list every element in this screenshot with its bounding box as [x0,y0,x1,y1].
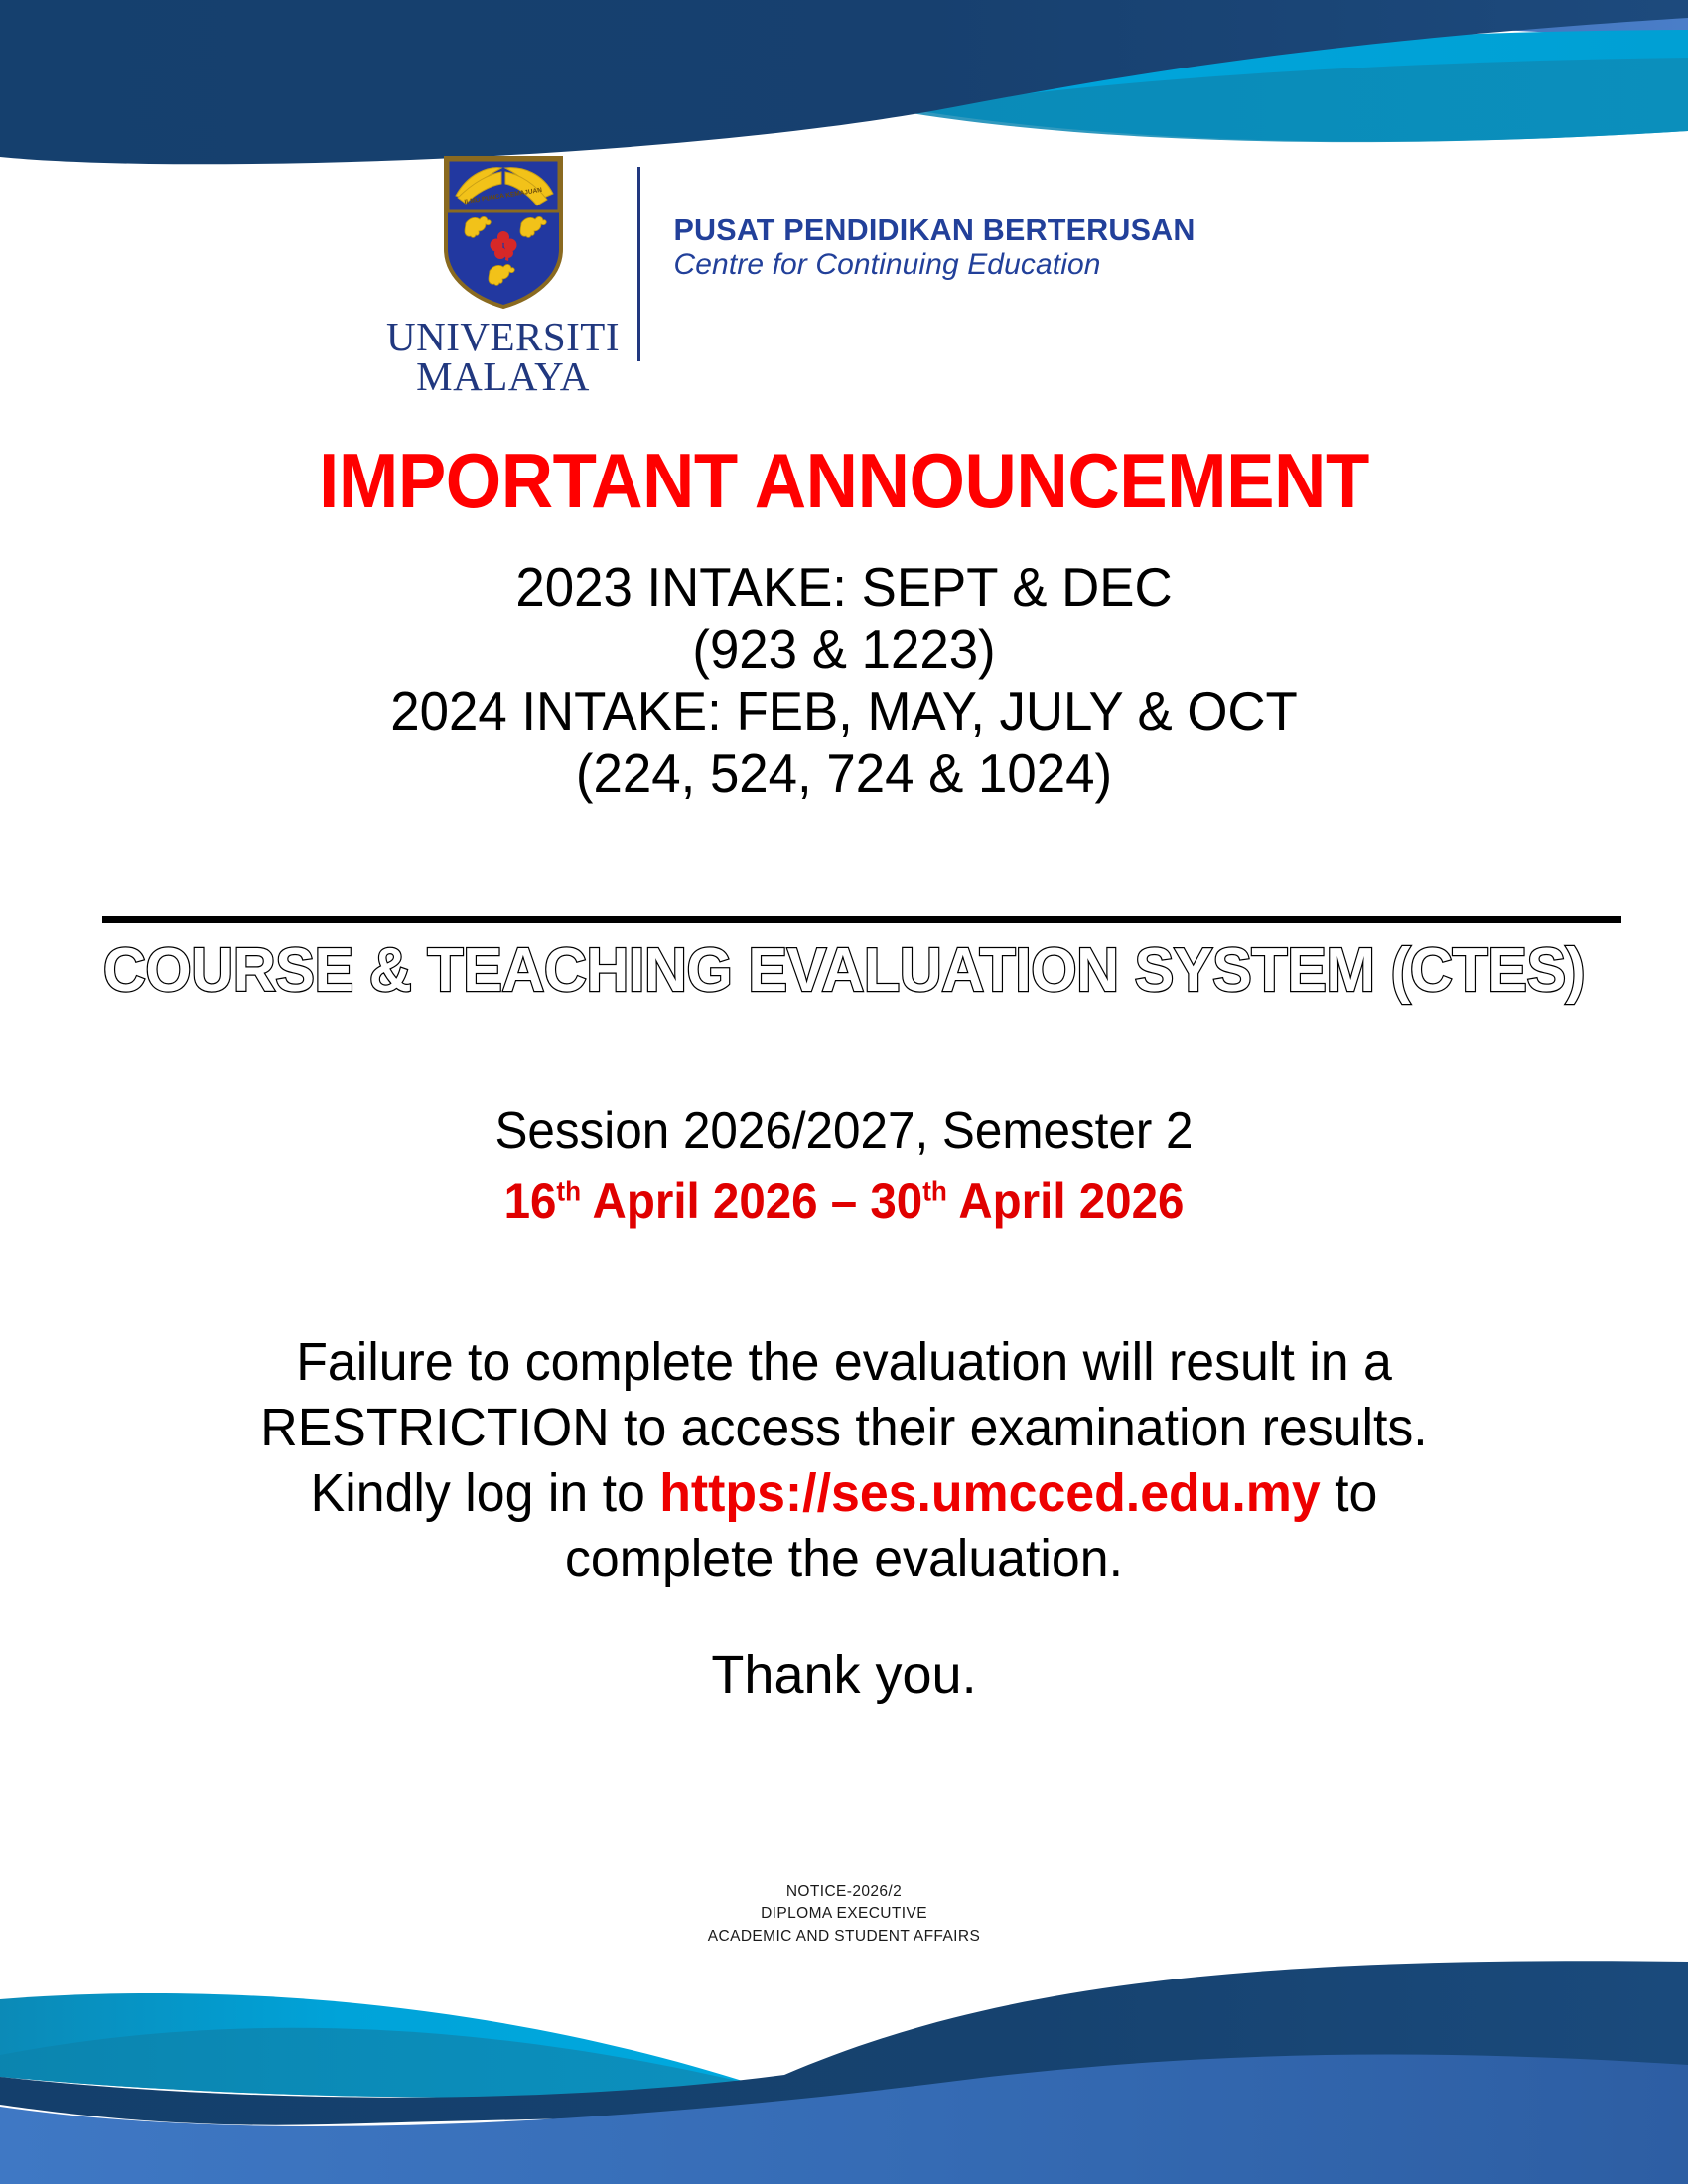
instruction-line-4: complete the evaluation. [34,1527,1654,1592]
date-start-ordinal: th [556,1175,581,1206]
instruction-line-3: Kindly log in to https://ses.umcced.edu.… [34,1461,1654,1527]
thank-you-text: Thank you. [0,1643,1688,1707]
instruction-line-1: Failure to complete the evaluation will … [34,1330,1654,1396]
header-logo-block: ILMU PUNCA KEMAJUAN UNIVERSITI MALAYA [0,154,1688,396]
intake-line-1: 2023 INTAKE: SEPT & DEC [34,556,1654,618]
date-start-rest: April 2026 – [581,1173,870,1229]
system-title: COURSE & TEACHING EVALUATION SYSTEM (CTE… [34,938,1654,1003]
evaluation-period: 16th April 2026 – 30th April 2026 [43,1173,1646,1229]
instruction-line-2: RESTRICTION to access their examination … [34,1396,1654,1461]
date-end-day: 30 [870,1173,922,1229]
intake-list: 2023 INTAKE: SEPT & DEC (923 & 1223) 202… [34,556,1654,805]
university-wordmark: UNIVERSITI MALAYA [386,317,620,396]
ses-portal-link[interactable]: https://ses.umcced.edu.my [659,1463,1320,1523]
session-label: Session 2026/2027, Semester 2 [43,1102,1646,1160]
intake-line-3: 2024 INTAKE: FEB, MAY, JULY & OCT [34,680,1654,743]
date-end-rest: April 2026 [947,1173,1185,1229]
university-line-1: UNIVERSITI [386,317,620,356]
bottom-wave-decoration [0,1956,1688,2184]
footer-notice-ref: NOTICE-2026/2 [0,1881,1688,1903]
page-title: IMPORTANT ANNOUNCEMENT [60,442,1629,519]
document-footer: NOTICE-2026/2 DIPLOMA EXECUTIVE ACADEMIC… [0,1881,1688,1948]
university-malaya-logo: ILMU PUNCA KEMAJUAN UNIVERSITI MALAYA [379,154,628,396]
centre-name-block: PUSAT PENDIDIKAN BERTERUSAN Centre for C… [674,213,1310,283]
intake-line-4: (224, 524, 724 & 1024) [34,743,1654,805]
date-start-day: 16 [504,1173,557,1229]
footer-division: ACADEMIC AND STUDENT AFFAIRS [0,1926,1688,1948]
login-suffix-text: to [1321,1463,1378,1523]
centre-name-english: Centre for Continuing Education [674,248,1310,283]
login-prefix-text: Kindly log in to [311,1463,660,1523]
centre-name-malay: PUSAT PENDIDIKAN BERTERUSAN [674,213,1310,247]
section-divider [102,916,1621,923]
logo-divider [637,167,640,361]
university-line-2: MALAYA [386,356,620,396]
top-wave-decoration [0,0,1688,169]
university-crest-icon: ILMU PUNCA KEMAJUAN [440,154,567,311]
instruction-body: Failure to complete the evaluation will … [34,1330,1654,1592]
footer-department: DIPLOMA EXECUTIVE [0,1903,1688,1925]
date-end-ordinal: th [922,1175,947,1206]
intake-line-2: (923 & 1223) [34,618,1654,681]
